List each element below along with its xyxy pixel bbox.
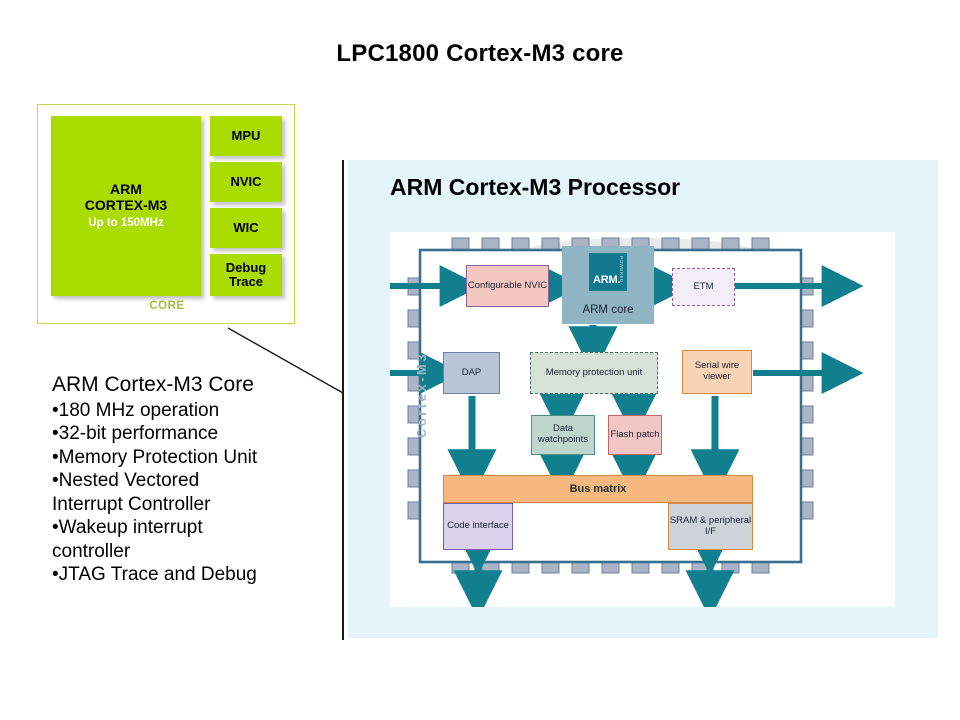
block-etm: ETM	[672, 268, 735, 306]
arm-cortex-m3-main-block: ARM CORTEX-M3 Up to 150MHz	[51, 116, 201, 296]
feature-item: •32-bit performance	[52, 422, 337, 446]
block-memory-protection-unit: Memory protection unit	[530, 352, 658, 394]
core-sub-block-wic: WIC	[210, 208, 282, 248]
feature-item: •JTAG Trace and Debug	[52, 563, 337, 587]
feature-item: Interrupt Controller	[52, 493, 337, 517]
block-serial-wire-viewer: Serial wire viewer	[682, 350, 752, 394]
chip-side-label: Cortex-M3	[414, 352, 429, 438]
block-configurable-nvic: Configurable NVIC	[466, 265, 549, 307]
slide-root: LPC1800 Cortex-M3 core ARM CORTEX-M3 Up …	[0, 0, 960, 720]
block-bus-matrix: Bus matrix	[443, 475, 753, 503]
feature-item: •Nested Vectored	[52, 469, 337, 493]
core-panel-caption: CORE	[38, 300, 296, 312]
block-data-watchpoints: Data watchpoints	[531, 415, 595, 455]
core-line-frequency: Up to 150MHz	[88, 217, 163, 230]
core-sub-block-mpu: MPU	[210, 116, 282, 156]
processor-diagram-panel: ARM Cortex-M3 Processor	[348, 160, 938, 638]
core-line-cortex-m3: CORTEX-M3	[85, 198, 167, 214]
page-title: LPC1800 Cortex-M3 core	[0, 40, 960, 68]
feature-item: controller	[52, 540, 337, 564]
arm-logo-wordmark: ARM.	[593, 274, 620, 286]
block-dap: DAP	[443, 352, 500, 394]
arm-logo-icon: ARM. POWERED	[589, 253, 627, 291]
processor-block-diagram: Cortex-M3 Configurable NVIC ARM. POWERED…	[390, 232, 895, 607]
block-arm-core-label: ARM core	[562, 304, 654, 317]
processor-diagram-title: ARM Cortex-M3 Processor	[390, 174, 680, 201]
feature-item: •180 MHz operation	[52, 399, 337, 423]
block-flash-patch: Flash patch	[608, 415, 662, 455]
arm-logo-powered: POWERED	[619, 256, 624, 283]
block-sram-peripheral-if: SRAM & peripheral I/F	[668, 503, 753, 550]
core-block-panel: ARM CORTEX-M3 Up to 150MHz MPU NVIC WIC …	[37, 104, 295, 324]
feature-list: ARM Cortex-M3 Core •180 MHz operation •3…	[52, 372, 337, 587]
feature-item: •Memory Protection Unit	[52, 446, 337, 470]
core-sub-block-nvic: NVIC	[210, 162, 282, 202]
block-code-interface: Code interface	[443, 503, 513, 550]
core-line-arm: ARM	[110, 182, 142, 198]
core-sub-block-debug-trace: DebugTrace	[210, 254, 282, 296]
block-arm-core: ARM. POWERED ARM core	[562, 246, 654, 324]
feature-list-heading: ARM Cortex-M3 Core	[52, 372, 337, 398]
feature-item: •Wakeup interrupt	[52, 516, 337, 540]
